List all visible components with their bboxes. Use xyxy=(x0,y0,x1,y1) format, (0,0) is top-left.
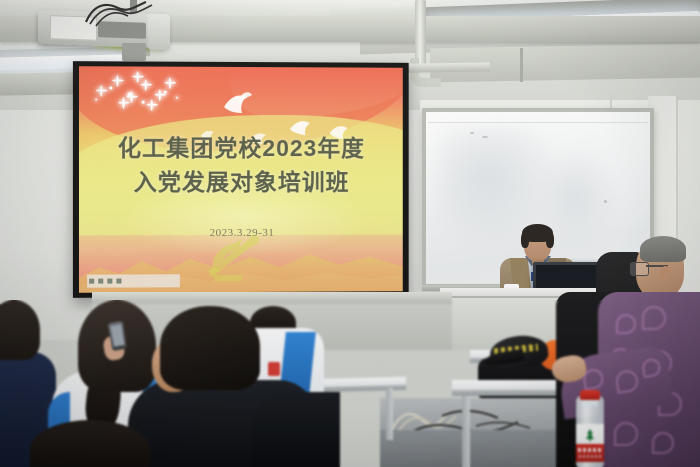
sparkle-dot xyxy=(128,93,132,97)
sparkle-dot xyxy=(176,97,178,99)
slide-taskbar xyxy=(87,274,180,287)
slide-date: 2023.3.29-31 xyxy=(79,227,403,240)
sparkle-dot xyxy=(164,91,167,94)
sparkle-dot xyxy=(142,101,145,104)
whiteboard-mark xyxy=(482,136,488,138)
desk-leg xyxy=(462,396,470,467)
slide-title-line2: 入党发展对象培训班 xyxy=(79,163,403,197)
jacket-red-accent xyxy=(268,362,280,376)
projection-screen: 化工集团党校2023年度 入党发展对象培训班 2023.3.29-31 xyxy=(73,61,409,298)
tree-logo-icon xyxy=(584,428,596,442)
classroom-photo: 化工集团党校2023年度 入党发展对象培训班 2023.3.29-31 xyxy=(0,0,700,467)
projector-cables-icon xyxy=(84,0,164,30)
floor-lower xyxy=(380,430,580,467)
sparkle-dot xyxy=(95,98,97,100)
audience-head-short-hair xyxy=(160,306,260,390)
audience-shoulder xyxy=(250,392,340,467)
whiteboard-mark xyxy=(604,200,607,203)
elder-hair xyxy=(640,236,686,262)
duct-seam xyxy=(520,48,523,82)
bottle-label-band xyxy=(576,444,604,462)
projector-bracket xyxy=(122,43,146,61)
projected-slide: 化工集团党校2023年度 入党发展对象培训班 2023.3.29-31 xyxy=(79,66,403,293)
elder-ear xyxy=(660,266,671,281)
bottle-label-text-2 xyxy=(579,455,601,458)
presenter-hair-right xyxy=(546,232,554,248)
desk-leg xyxy=(386,388,393,440)
sparkle-dot xyxy=(109,86,112,89)
whiteboard-top-line xyxy=(428,122,648,123)
bottle-neck xyxy=(582,399,598,406)
bottle-label-text xyxy=(578,448,602,452)
whiteboard-sheen-2 xyxy=(540,150,610,240)
presenter-hair-left xyxy=(521,232,529,248)
slide-title-line1: 化工集团党校2023年度 xyxy=(79,129,403,163)
bottle-cap xyxy=(580,390,600,400)
whiteboard-mark xyxy=(470,132,474,134)
dove-icon xyxy=(220,87,254,117)
